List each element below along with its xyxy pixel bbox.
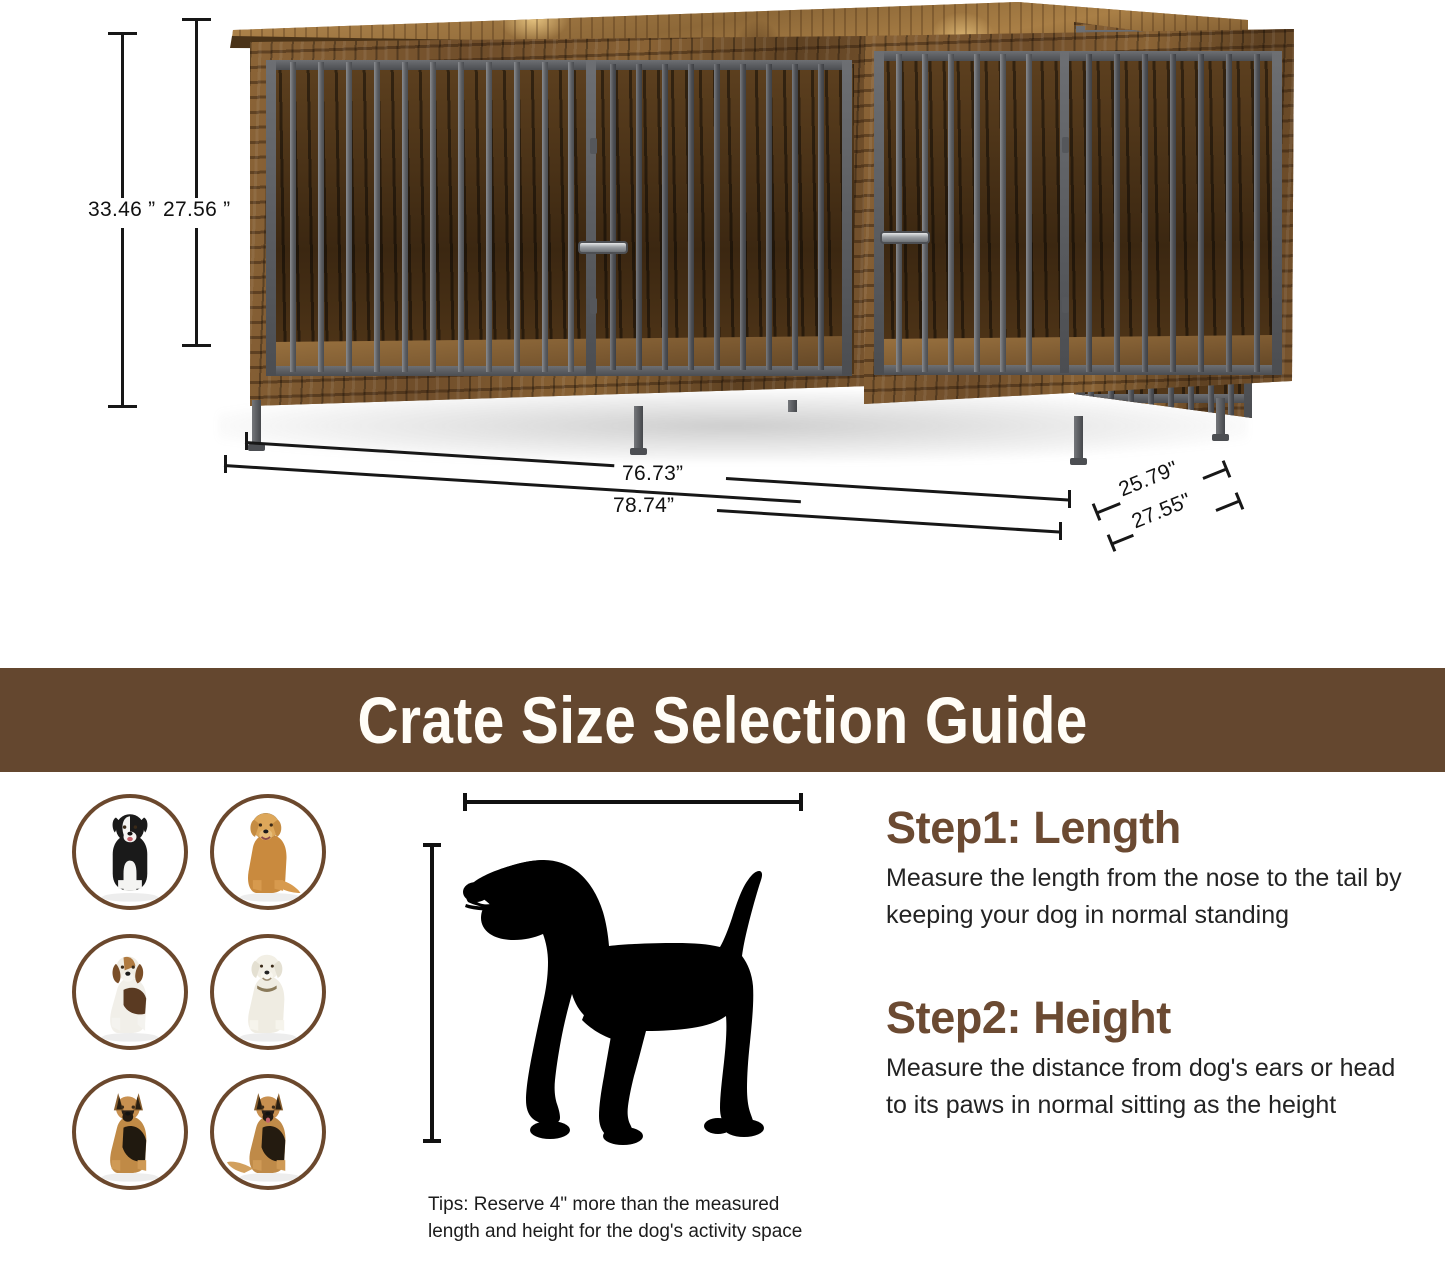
height-outer-dim-line-bottom (121, 228, 124, 408)
step-2-title: Step2: Height (886, 992, 1406, 1044)
dog-crate-illustration (228, 2, 1248, 457)
crate-left-window-bar (402, 62, 408, 372)
crate-right-comp-bar (1114, 54, 1120, 372)
height-measure-cap-top (423, 843, 441, 847)
breed-circle-german-shepherd (72, 1074, 188, 1190)
german-shepherd-2-photo (214, 1078, 322, 1186)
white-labrador-photo (214, 938, 322, 1046)
crate-foot-front-right (1070, 458, 1087, 465)
crate-leg-back-right (1216, 398, 1225, 436)
width-outer-dim-line-left (224, 464, 801, 503)
width-outer-dim-cap-right (1059, 522, 1062, 540)
depth-outer-dim-line-left (1112, 534, 1134, 545)
width-outer-label: 78.74” (613, 494, 674, 518)
height-measure-cap-bottom (423, 1139, 441, 1143)
beagle-photo (76, 938, 184, 1046)
border-collie-photo (76, 798, 184, 906)
length-measure-cap-right (799, 793, 803, 811)
crate-right-comp-bar (1198, 54, 1204, 372)
step-2: Step2: Height Measure the distance from … (886, 992, 1406, 1124)
crate-right-door-frame-left (874, 51, 884, 375)
crate-left-window-bar (346, 62, 352, 372)
crate-right-comp-bar (1000, 54, 1006, 372)
height-inner-dim-line-bottom (195, 228, 198, 347)
height-measure-bar (430, 843, 434, 1143)
crate-right-comp-bar (1254, 54, 1260, 372)
steps-list: Step1: Length Measure the length from th… (886, 802, 1406, 1124)
crate-left-window-frame-left (266, 60, 276, 376)
crate-left-door-hinge (590, 138, 597, 154)
crate-left-door-latch[interactable] (580, 243, 626, 252)
crate-left-window-bar (568, 62, 574, 372)
crate-left-window-bar (458, 62, 464, 372)
length-measure-bar (463, 800, 803, 804)
crate-right-comp-bar (922, 54, 928, 372)
crate-right-comp-bar (1026, 54, 1032, 372)
step-1-title: Step1: Length (886, 802, 1406, 854)
crate-leg-front-left (252, 400, 261, 446)
breed-row (72, 1074, 352, 1190)
crate-right-compartment (864, 29, 1294, 411)
crate-right-comp-bar (1170, 54, 1176, 372)
breed-row (72, 794, 352, 910)
product-dimension-diagram: 33.46 ” 27.56 ” (0, 0, 1445, 668)
crate-leg-center (634, 406, 643, 450)
crate-left-door-bar (766, 64, 772, 370)
crate-left-window-bar (374, 62, 380, 372)
width-outer-dim-line-right (717, 509, 1062, 534)
depth-inner-dim-line-left (1097, 502, 1120, 514)
crate-left-window-bar (290, 62, 296, 372)
crate-left-door-bar (636, 64, 642, 370)
crate-left-window-bar (542, 62, 548, 372)
crate-left-window-bar (318, 62, 324, 372)
crate-right-door-hinge (1062, 297, 1069, 313)
step-1: Step1: Length Measure the length from th… (886, 802, 1406, 934)
crate-left-window-frame-bottom (266, 366, 586, 376)
size-guide-section: Tips: Reserve 4" more than the measured … (0, 772, 1445, 1275)
breed-circle-border-collie (72, 794, 188, 910)
section-banner: Crate Size Selection Guide (0, 668, 1445, 772)
crate-left-door-bar (688, 64, 694, 370)
crate-right-door-frame-bottom (874, 365, 1282, 375)
crate-right-comp-bar (896, 54, 902, 372)
golden-retriever-photo (214, 798, 322, 906)
step-1-body: Measure the length from the nose to the … (886, 860, 1406, 934)
crate-left-door-hinge (590, 298, 597, 314)
crate-right-door-latch[interactable] (882, 233, 928, 242)
crate-left-door-frame-right (842, 60, 852, 376)
crate-left-door-bar (818, 64, 824, 370)
crate-left-compartment (250, 36, 870, 406)
crate-side-door-latch[interactable] (1296, 251, 1336, 260)
crate-right-comp-bar (1226, 54, 1232, 372)
height-outer-label: 33.46 ” (88, 198, 155, 222)
breed-circle-golden-retriever (210, 794, 326, 910)
height-inner-dim-cap-bottom (182, 344, 211, 347)
height-outer-dim-line-top (121, 32, 124, 198)
step-2-body: Measure the distance from dog's ears or … (886, 1050, 1406, 1124)
height-inner-dim-cap-top (182, 18, 211, 21)
crate-right-comp-bar (974, 54, 980, 372)
german-shepherd-photo (76, 1078, 184, 1186)
width-inner-dim-cap-right (1068, 490, 1071, 508)
height-inner-label: 27.56 ” (163, 198, 230, 222)
crate-left-door-frame-left (586, 60, 596, 376)
crate-right-comp-bar (1142, 54, 1148, 372)
breed-gallery (72, 794, 352, 1214)
length-measure-cap-left (463, 793, 467, 811)
infographic-page: 33.46 ” 27.56 ” (0, 0, 1445, 1275)
breed-circle-german-shepherd-2 (210, 1074, 326, 1190)
breed-circle-white-labrador (210, 934, 326, 1050)
crate-right-comp-bar (1086, 54, 1092, 372)
tips-text: Tips: Reserve 4" more than the measured … (428, 1192, 828, 1246)
crate-leg-front-right (1074, 416, 1083, 460)
crate-left-door-bar (714, 64, 720, 370)
dog-silhouette-icon (456, 830, 816, 1150)
crate-left-window-bar (430, 62, 436, 372)
breed-row (72, 934, 352, 1050)
height-inner-dim-line-top (195, 18, 198, 198)
crate-leg-back-stub (788, 400, 797, 412)
crate-left-door-bar (662, 64, 668, 370)
crate-left-window-bar (514, 62, 520, 372)
crate-left-door-bar (792, 64, 798, 370)
banner-title: Crate Size Selection Guide (357, 682, 1087, 758)
dog-measurement-diagram (418, 786, 838, 1186)
crate-right-door-frame-right (1272, 51, 1282, 375)
height-outer-dim-cap-top (108, 32, 137, 35)
crate-right-door-frame-top (874, 51, 1282, 61)
crate-left-window-frame-top (266, 60, 586, 70)
crate-right-door-hinge (1062, 137, 1069, 153)
height-outer-dim-cap-bottom (108, 405, 137, 408)
crate-right-comp-interior (878, 55, 1278, 373)
crate-foot-back-right (1212, 434, 1229, 441)
breed-circle-beagle (72, 934, 188, 1050)
depth-outer-dim-line-right (1215, 500, 1238, 512)
crate-left-door-bar (610, 64, 616, 370)
width-inner-label: 76.73” (622, 462, 683, 486)
crate-right-comp-bar (948, 54, 954, 372)
crate-left-door-bar (740, 64, 746, 370)
depth-inner-dim-line-right (1202, 468, 1225, 480)
crate-right-door-frame-mid (1060, 51, 1069, 373)
crate-left-window-bar (486, 62, 492, 372)
crate-foot-center (630, 448, 647, 455)
